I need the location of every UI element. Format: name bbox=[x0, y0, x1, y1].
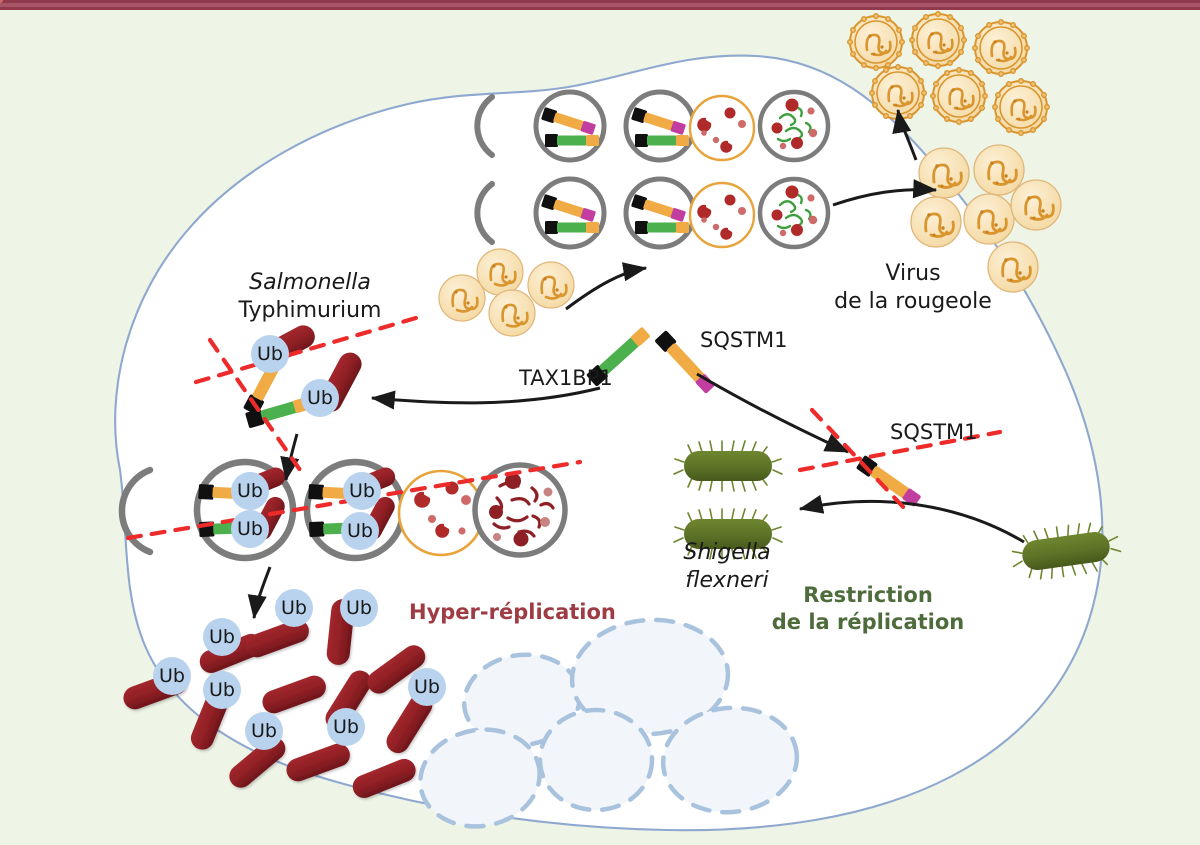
ub-badge: Ub bbox=[203, 671, 241, 709]
ub-badge-label: Ub bbox=[414, 676, 440, 698]
degradation-vesicle-virus-1 bbox=[760, 92, 828, 160]
label-salmonella-genus: Salmonella bbox=[249, 270, 371, 296]
ub-badge-label: Ub bbox=[349, 480, 375, 502]
degradation-vesicle-virus-2 bbox=[760, 179, 828, 247]
ub-badge: Ub bbox=[231, 472, 269, 510]
ub-badge: Ub bbox=[408, 668, 446, 706]
ub-badge-label: Ub bbox=[346, 597, 372, 619]
ub-badge: Ub bbox=[251, 335, 289, 373]
ub-badge: Ub bbox=[340, 589, 378, 627]
ub-badge-label: Ub bbox=[159, 665, 185, 687]
label-restriction-line1: Restriction bbox=[803, 583, 933, 608]
ub-badge-label: Ub bbox=[333, 716, 359, 738]
ub-badge-label: Ub bbox=[209, 626, 235, 648]
ub-badge: Ub bbox=[301, 379, 339, 417]
ub-badge: Ub bbox=[153, 657, 191, 695]
ub-badge: Ub bbox=[231, 510, 269, 548]
label-measles-line1: Virus bbox=[885, 261, 940, 287]
ub-badge-label: Ub bbox=[307, 387, 333, 409]
ub-badge-label: Ub bbox=[209, 679, 235, 701]
autophagosome-virus-2 bbox=[536, 179, 604, 247]
ub-badge-label: Ub bbox=[257, 343, 283, 365]
label-shigella-genus: Shigella bbox=[683, 540, 770, 566]
label-measles-line2: de la rougeole bbox=[834, 289, 992, 315]
label-shigella-species: flexneri bbox=[685, 568, 768, 594]
label-salmonella-species: Typhimurium bbox=[239, 298, 382, 324]
ub-badge: Ub bbox=[203, 618, 241, 656]
ub-badge-label: Ub bbox=[237, 480, 263, 502]
ub-badge: Ub bbox=[341, 512, 379, 550]
ub-badge: Ub bbox=[245, 712, 283, 750]
label-restriction-line2: de la réplication bbox=[772, 610, 965, 635]
autophagosome-virus-1 bbox=[536, 92, 604, 160]
ub-badge-label: Ub bbox=[237, 518, 263, 540]
ub-badge-label: Ub bbox=[347, 520, 373, 542]
ub-badge: Ub bbox=[275, 589, 313, 627]
diagram-svg bbox=[0, 0, 1200, 845]
label-tax1bp1: TAX1BP1 bbox=[519, 366, 613, 391]
ub-badge: Ub bbox=[327, 708, 365, 746]
ub-badge: Ub bbox=[343, 472, 381, 510]
label-hyper-replication: Hyper-réplication bbox=[409, 600, 616, 625]
label-sqstm1-shigella: SQSTM1 bbox=[890, 420, 978, 445]
ub-badge-label: Ub bbox=[281, 597, 307, 619]
figure-canvas: Salmonella Typhimurium TAX1BP1 SQSTM1 SQ… bbox=[0, 0, 1200, 845]
label-sqstm1-free: SQSTM1 bbox=[700, 328, 788, 353]
ub-badge-label: Ub bbox=[251, 720, 277, 742]
